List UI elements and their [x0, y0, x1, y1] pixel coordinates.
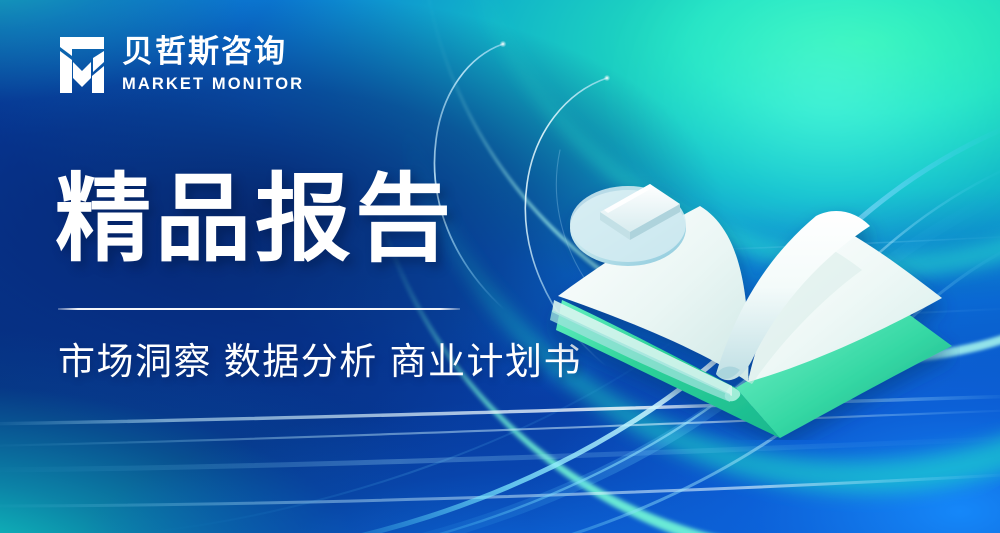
brand-name-cn: 贝哲斯咨询 — [122, 36, 304, 68]
page-title: 精品报告 — [55, 170, 455, 271]
brand-name-en: MARKET MONITOR — [122, 75, 304, 94]
page-subtitle: 市场洞察 数据分析 商业计划书 — [58, 331, 582, 385]
title-divider — [58, 308, 460, 310]
brand-logo: 贝哲斯咨询 MARKET MONITOR — [58, 36, 304, 94]
open-book-illustration — [540, 150, 960, 440]
report-poster: 贝哲斯咨询 MARKET MONITOR 精品报告 市场洞察 数据分析 商业计划… — [0, 0, 1000, 533]
market-monitor-m-logo-icon — [58, 36, 106, 94]
brand-logo-text: 贝哲斯咨询 MARKET MONITOR — [122, 36, 304, 93]
